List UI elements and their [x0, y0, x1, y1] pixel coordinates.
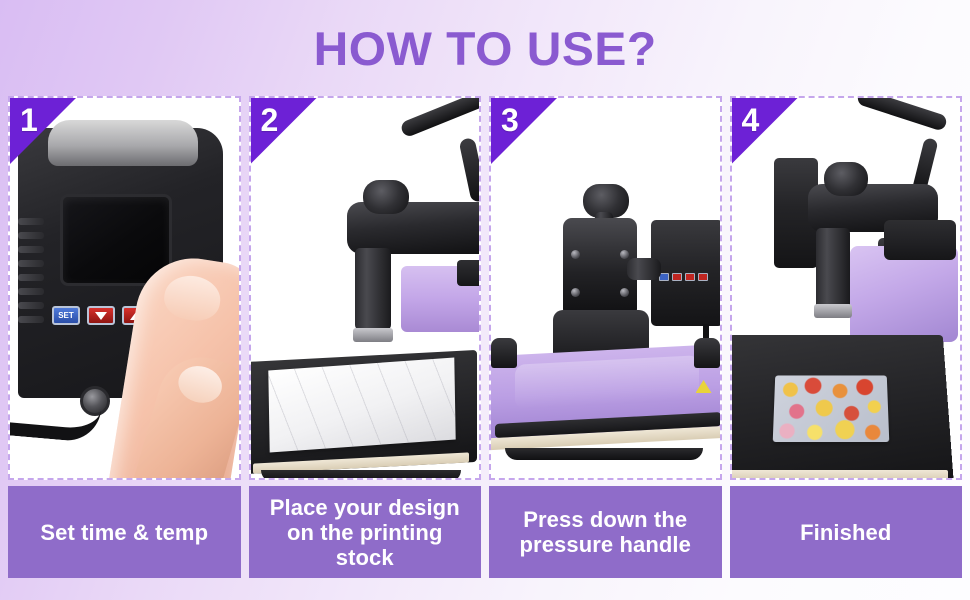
step-number-3: 3	[501, 100, 519, 140]
control-box	[651, 220, 722, 326]
bolt-icon	[571, 288, 580, 297]
step-caption-text-1: Set time & temp	[40, 520, 208, 545]
step-caption-bar-1: Set time & temp	[8, 486, 241, 578]
bolt-icon	[620, 288, 629, 297]
step-photo-1: SET 1	[8, 96, 241, 480]
bolt-icon	[571, 250, 580, 259]
base-foot	[505, 448, 703, 460]
right-lever[interactable]	[694, 338, 720, 368]
transfer-paper-sheet	[268, 358, 455, 453]
step-photo-3: 3	[489, 96, 722, 480]
title-container: HOW TO USE?	[0, 18, 970, 90]
heat-plate-top	[884, 220, 956, 260]
how-to-use-infographic: HOW TO USE? SET	[0, 0, 970, 600]
step-card-2: 2 Place your design on the printing stoc…	[249, 96, 482, 578]
illustration-press-closed	[491, 98, 720, 478]
illustration-controller: SET	[10, 98, 239, 478]
mini-button-2[interactable]	[672, 273, 682, 281]
step-card-1: SET 1	[8, 96, 241, 578]
step-number-2: 2	[261, 100, 279, 140]
finished-printed-mousepad	[772, 375, 889, 442]
controller-top-cap	[48, 120, 198, 166]
step-number-1: 1	[20, 100, 38, 140]
controller-ribs	[18, 218, 44, 338]
step-caption-text-4: Finished	[800, 520, 891, 545]
adjustment-knob	[824, 162, 868, 196]
step-caption-bar-2: Place your design on the printing stock	[249, 486, 482, 578]
clamp-assembly	[563, 218, 637, 318]
base-strip	[730, 470, 948, 480]
column-collar	[353, 328, 393, 342]
pressure-handle	[399, 96, 481, 138]
illustration-press-open	[251, 98, 480, 478]
step-photo-2: 2	[249, 96, 482, 480]
mini-button-4[interactable]	[698, 273, 708, 281]
steps-row: SET 1	[8, 96, 962, 578]
step-number-4: 4	[742, 100, 760, 140]
handle-shaft	[458, 137, 481, 203]
control-box-button-row[interactable]	[659, 273, 708, 281]
down-arrow-button[interactable]	[87, 306, 115, 325]
step-card-3: 3 Press down the pressure handle	[489, 96, 722, 578]
left-lever[interactable]	[491, 338, 517, 368]
box-bracket	[627, 258, 661, 280]
illustration-finished	[732, 98, 961, 478]
mini-button-3[interactable]	[685, 273, 695, 281]
step-caption-text-2: Place your design on the printing stock	[257, 495, 474, 570]
heat-plate-top	[457, 260, 482, 286]
set-button[interactable]: SET	[52, 306, 80, 325]
step-card-4: 4 Finished	[730, 96, 963, 578]
adjustment-knob	[363, 180, 409, 214]
press-column	[355, 248, 391, 330]
pressure-handle	[855, 96, 947, 132]
step-caption-bar-3: Press down the pressure handle	[489, 486, 722, 578]
arrow-down-icon	[95, 312, 107, 320]
bolt-icon	[620, 250, 629, 259]
page-title: HOW TO USE?	[314, 18, 657, 80]
step-photo-4: 4	[730, 96, 963, 480]
press-upper-arm	[347, 202, 482, 254]
press-column	[816, 228, 850, 310]
column-collar	[814, 304, 852, 318]
step-caption-bar-4: Finished	[730, 486, 963, 578]
step-caption-text-3: Press down the pressure handle	[520, 507, 691, 557]
base-foot	[261, 470, 461, 480]
upper-platen-housing	[850, 246, 958, 342]
